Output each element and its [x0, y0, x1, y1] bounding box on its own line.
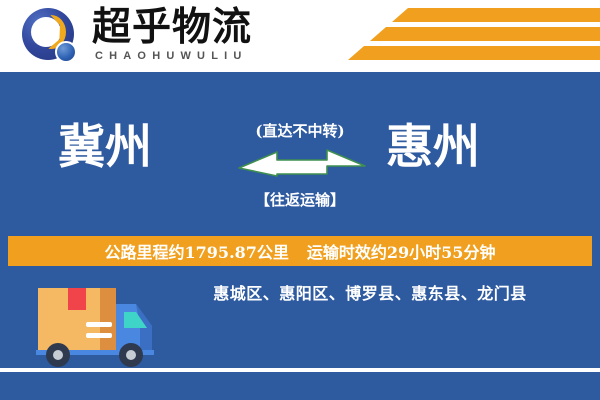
- delivery-truck-icon: [28, 278, 168, 370]
- roundtrip-label: 【往返运输】: [0, 189, 600, 210]
- orange-speed-stripes-icon: [330, 8, 600, 66]
- duration-text: 运输时效约29小时55分钟: [307, 239, 496, 263]
- direct-route-label: (直达不中转): [0, 120, 600, 141]
- logistics-route-banner: 超乎物流 CHAOHUWULIU 冀州 惠州 (直达不中转) 【往返运输】 公路…: [0, 0, 600, 400]
- distance-text: 公路里程约1795.87公里: [105, 239, 289, 263]
- logo-small-circle: [55, 41, 77, 63]
- coverage-districts: 惠城区、惠阳区、博罗县、惠东县、龙门县: [160, 280, 580, 304]
- stripe-3: [348, 46, 600, 60]
- bidirectional-arrow-icon: [237, 146, 367, 180]
- stripe-1: [392, 8, 600, 22]
- route-info-bar: 公路里程约1795.87公里 运输时效约29小时55分钟: [8, 236, 592, 266]
- logistics-circle-logo-icon: [22, 8, 80, 66]
- bottom-divider: [0, 368, 600, 372]
- brand-pinyin: CHAOHUWULIU: [95, 50, 248, 62]
- brand-name: 超乎物流: [92, 5, 252, 49]
- banner-header: 超乎物流 CHAOHUWULIU: [0, 0, 600, 72]
- stripe-2: [370, 27, 600, 41]
